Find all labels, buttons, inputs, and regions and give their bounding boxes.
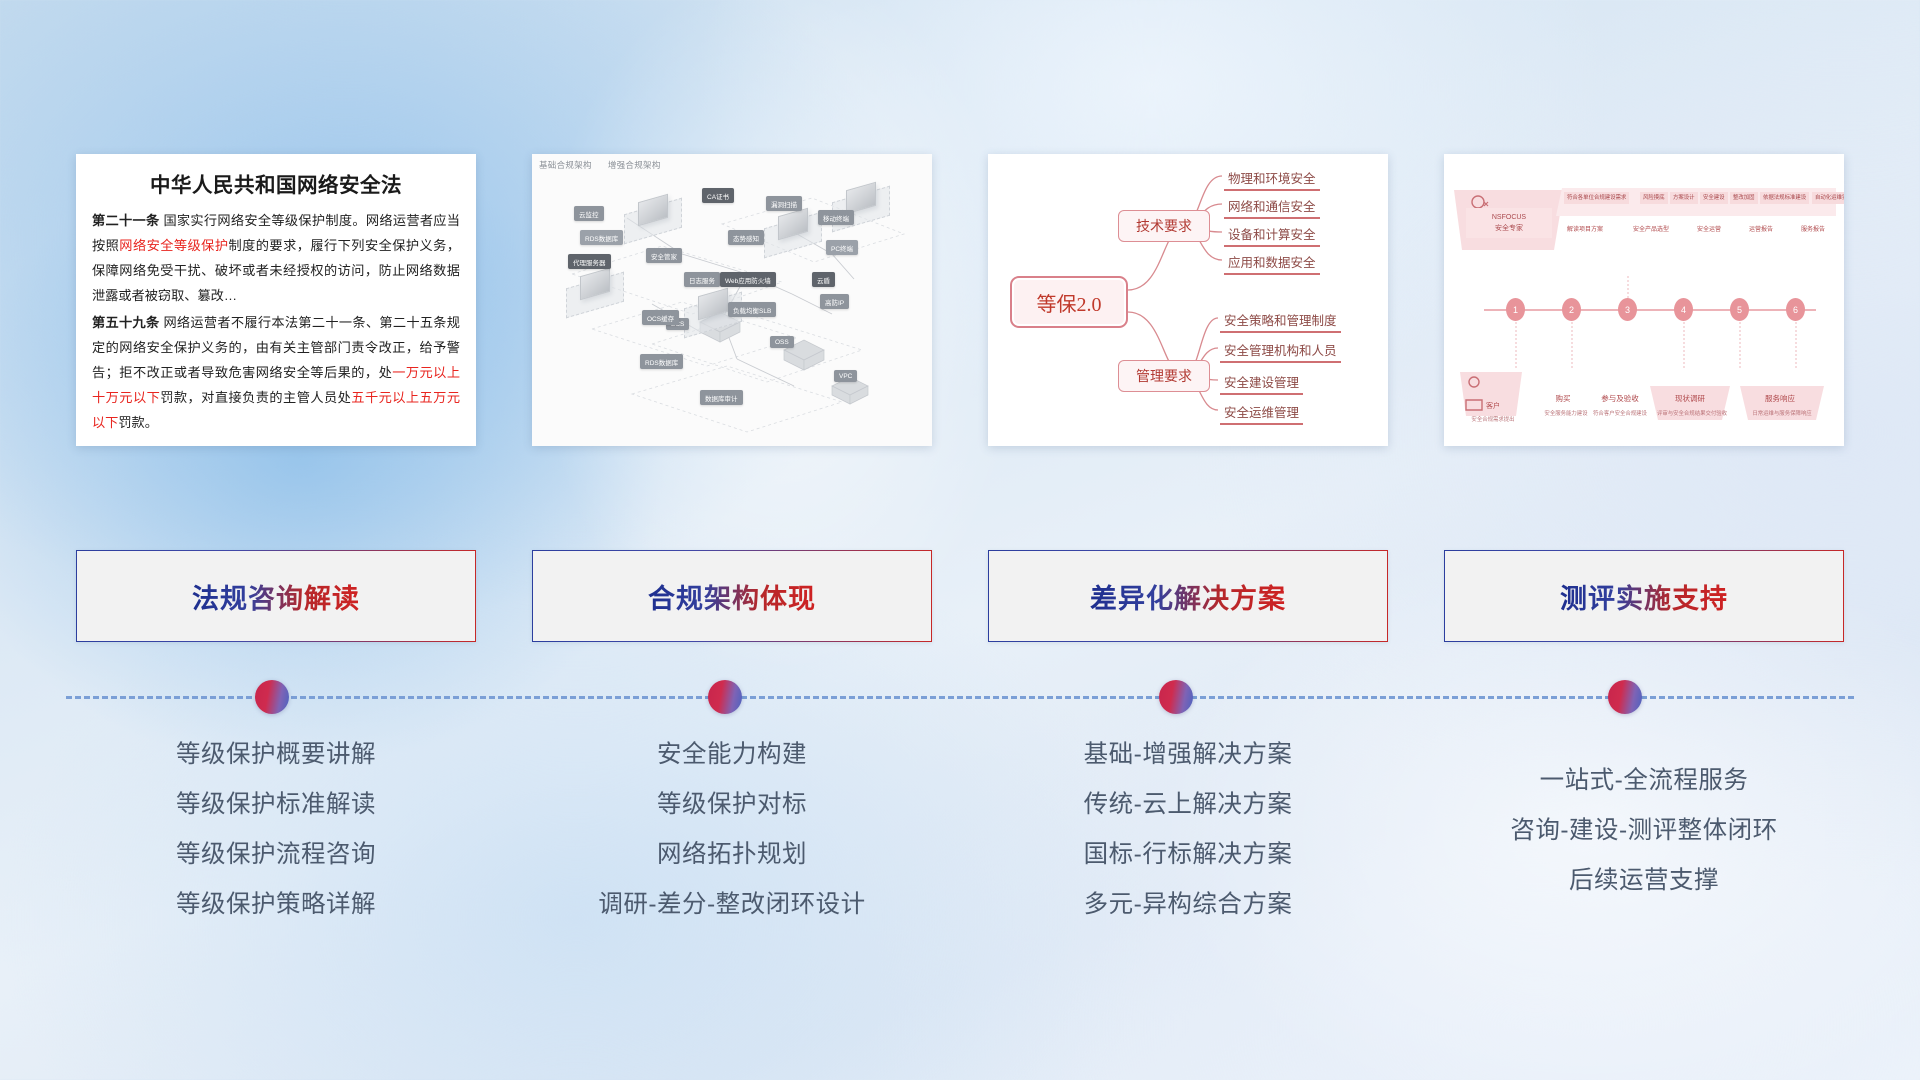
list-item: 国标-行标解决方案 <box>1084 830 1293 880</box>
list-item: 一站式-全流程服务 <box>1540 756 1749 806</box>
list-col-0: 等级保护概要讲解 等级保护标准解读 等级保护流程咨询 等级保护策略详解 <box>76 730 476 960</box>
banner-label-2: 差异化解决方案 <box>1090 577 1286 616</box>
banner-3[interactable]: 测评实施支持 <box>1444 550 1844 642</box>
mindmap-leaf-mgmt-0: 安全策略和管理制度 <box>1220 310 1341 333</box>
timeline-bottom-subtag-0: 安全服务能力建设 <box>1540 410 1592 419</box>
timeline-number-1: 1 <box>1506 298 1525 321</box>
timeline-bottom-tag-0: 购买 <box>1542 394 1584 403</box>
banner-2[interactable]: 差异化解决方案 <box>988 550 1388 642</box>
timeline-bottom-tag-3: 服务响应 <box>1752 394 1808 403</box>
mindmap-branch-management: 管理要求 <box>1118 360 1210 392</box>
list-item: 咨询-建设-测评整体闭环 <box>1510 806 1777 856</box>
arch-node-15: OSS <box>770 336 794 348</box>
mindmap-leaf-mgmt-2: 安全建设管理 <box>1220 372 1303 395</box>
timeline-bottom-subtag-2: 评审与安全合规结果交付验收 <box>1656 410 1728 419</box>
timeline-number-5: 5 <box>1730 298 1749 321</box>
law-article-59-text-3: 罚款。 <box>118 415 158 430</box>
timeline-top-tag-5: 依据法规标准建设 <box>1760 192 1809 204</box>
mindmap-leaf-mgmt-1: 安全管理机构和人员 <box>1220 340 1341 363</box>
timeline-number-6: 6 <box>1786 298 1805 321</box>
law-article-21-label: 第二十一条 <box>92 213 159 228</box>
banner-1[interactable]: 合规架构体现 <box>532 550 932 642</box>
timeline-stage-3: 运营报告 <box>1736 226 1786 235</box>
timeline-customer-sublabel: 安全合规需求提出 <box>1454 416 1532 425</box>
timeline-persona-sub: 安全专家 <box>1495 225 1523 232</box>
arch-node-3: CA证书 <box>702 188 734 203</box>
list-item: 网络拓扑规划 <box>657 830 807 880</box>
timeline-stage-4: 服务报告 <box>1788 226 1838 235</box>
arch-node-17: VPC <box>834 370 857 382</box>
timeline-bottom-subtag-1: 符合客户安全合规建设 <box>1586 410 1654 419</box>
banner-0[interactable]: 法规咨询解读 <box>76 550 476 642</box>
arch-node-12: 高防IP <box>820 294 849 309</box>
arch-node-13: OCS缓存 <box>642 310 679 325</box>
arch-node-14: RDS数据库 <box>640 354 683 369</box>
mindmap-root-node: 等保2.0 <box>1010 276 1128 328</box>
timeline-top-tag-4: 整改加固 <box>1730 192 1758 204</box>
architecture-nodes: RDS数据库 代理服务器 安全管家 CA证书 日志服务 态势感知 Web应用防火… <box>532 154 932 446</box>
arch-node-18: 云监控 <box>574 206 604 221</box>
timeline-axis-dot-2 <box>1159 680 1193 714</box>
timeline-axis-line <box>66 696 1854 699</box>
arch-node-0: RDS数据库 <box>580 230 623 245</box>
law-article-59-text-2: 罚款，对直接负责的主管人员处 <box>160 390 351 405</box>
list-item: 基础-增强解决方案 <box>1084 730 1293 780</box>
list-item: 等级保护对标 <box>657 780 807 830</box>
banner-label-0: 法规咨询解读 <box>192 577 360 616</box>
timeline-top-tag-3: 安全建设 <box>1700 192 1728 204</box>
timeline-stage-1: 安全产品选型 <box>1620 226 1682 235</box>
timeline-axis-dot-0 <box>255 680 289 714</box>
timeline-top-tag-2: 方案设计 <box>1670 192 1698 204</box>
arch-node-19: 漏洞扫描 <box>766 196 802 211</box>
mindmap-leaf-tech-0: 物理和环境安全 <box>1224 168 1320 191</box>
list-col-1: 安全能力构建 等级保护对标 网络拓扑规划 调研-差分-整改闭环设计 <box>532 730 932 960</box>
card-service-timeline: NSFOCUS 安全专家 符合各单位合规建设需求 风险摸底 方案设计 安全建设 … <box>1444 154 1844 446</box>
arch-node-1: 代理服务器 <box>568 254 611 269</box>
card-cybersecurity-law: 中华人民共和国网络安全法 第二十一条 国家实行网络安全等级保护制度。网络运营者应… <box>76 154 476 446</box>
timeline-axis-dot-3 <box>1608 680 1642 714</box>
law-article-21: 第二十一条 国家实行网络安全等级保护制度。网络运营者应当按照网络安全等级保护制度… <box>92 208 460 308</box>
card-mindmap: 等保2.0 技术要求 管理要求 物理和环境安全 网络和通信安全 设备和计算安全 … <box>988 154 1388 446</box>
card-architecture-diagram: 基础合规架构增强合规架构 <box>532 154 932 446</box>
timeline-persona-title: NSFOCUS <box>1492 214 1526 221</box>
timeline-number-2: 2 <box>1562 298 1581 321</box>
list-item: 等级保护概要讲解 <box>176 730 376 780</box>
list-item: 等级保护流程咨询 <box>176 830 376 880</box>
mindmap-branch-technical: 技术要求 <box>1118 210 1210 242</box>
mindmap-leaf-tech-3: 应用和数据安全 <box>1224 252 1320 275</box>
arch-node-10: 移动终端 <box>818 210 854 225</box>
timeline-bottom-tag-1: 参与及验收 <box>1592 394 1648 403</box>
arch-node-7: 负载均衡SLB <box>728 302 776 317</box>
law-card-title: 中华人民共和国网络安全法 <box>92 168 460 198</box>
timeline-number-4: 4 <box>1674 298 1693 321</box>
banner-row: 法规咨询解读 合规架构体现 差异化解决方案 测评实施支持 <box>76 550 1844 642</box>
banner-label-1: 合规架构体现 <box>648 577 816 616</box>
cards-row: 中华人民共和国网络安全法 第二十一条 国家实行网络安全等级保护制度。网络运营者应… <box>76 154 1844 446</box>
timeline-customer-label: 客户 <box>1462 402 1524 411</box>
timeline-persona-nsfocus: NSFOCUS 安全专家 <box>1466 208 1552 238</box>
list-item: 等级保护标准解读 <box>176 780 376 830</box>
list-item: 多元-异构综合方案 <box>1084 880 1293 930</box>
arch-node-9: PC终端 <box>826 240 858 255</box>
mindmap-leaf-mgmt-3: 安全运维管理 <box>1220 402 1303 425</box>
timeline-top-tag-6: 自动化运维实现全生命周期安全保障 <box>1812 192 1844 204</box>
arch-node-6: Web应用防火墙 <box>720 272 776 287</box>
list-col-3: 一站式-全流程服务 咨询-建设-测评整体闭环 后续运营支撑 <box>1444 730 1844 960</box>
timeline-top-tag-1: 风险摸底 <box>1640 192 1668 204</box>
timeline-axis-dot-1 <box>708 680 742 714</box>
list-item: 传统-云上解决方案 <box>1084 780 1293 830</box>
law-article-21-highlight: 网络安全等级保护 <box>119 238 228 253</box>
mindmap-leaf-tech-2: 设备和计算安全 <box>1224 224 1320 247</box>
list-col-2: 基础-增强解决方案 传统-云上解决方案 国标-行标解决方案 多元-异构综合方案 <box>988 730 1388 960</box>
timeline-customer-persona <box>1466 380 1524 388</box>
arch-node-16: 数据库审计 <box>700 390 743 405</box>
law-article-59: 第五十九条 网络运营者不履行本法第二十一条、第二十五条规定的网络安全保护义务的，… <box>92 310 460 435</box>
list-item: 等级保护策略详解 <box>176 880 376 930</box>
timeline-bottom-tag-2: 现状调研 <box>1662 394 1718 403</box>
arch-node-4: 日志服务 <box>684 272 720 287</box>
banner-label-3: 测评实施支持 <box>1560 577 1728 616</box>
timeline-stage-0: 解读项目方案 <box>1554 226 1616 235</box>
mindmap-leaf-tech-1: 网络和通信安全 <box>1224 196 1320 219</box>
timeline-number-3: 3 <box>1618 298 1637 321</box>
timeline-stage-2: 安全运营 <box>1684 226 1734 235</box>
arch-node-5: 态势感知 <box>728 230 764 245</box>
arch-node-2: 安全管家 <box>646 248 682 263</box>
list-item: 安全能力构建 <box>657 730 807 780</box>
law-article-59-label: 第五十九条 <box>92 315 159 330</box>
lists-row: 等级保护概要讲解 等级保护标准解读 等级保护流程咨询 等级保护策略详解 安全能力… <box>76 730 1844 960</box>
arch-node-11: 云盾 <box>812 272 835 287</box>
list-item: 后续运营支撑 <box>1569 856 1719 906</box>
list-item: 调研-差分-整改闭环设计 <box>598 880 865 930</box>
timeline-top-tag-0: 符合各单位合规建设需求 <box>1564 192 1629 204</box>
timeline-bottom-subtag-3: 日常运维与服务保障响应 <box>1746 410 1818 419</box>
